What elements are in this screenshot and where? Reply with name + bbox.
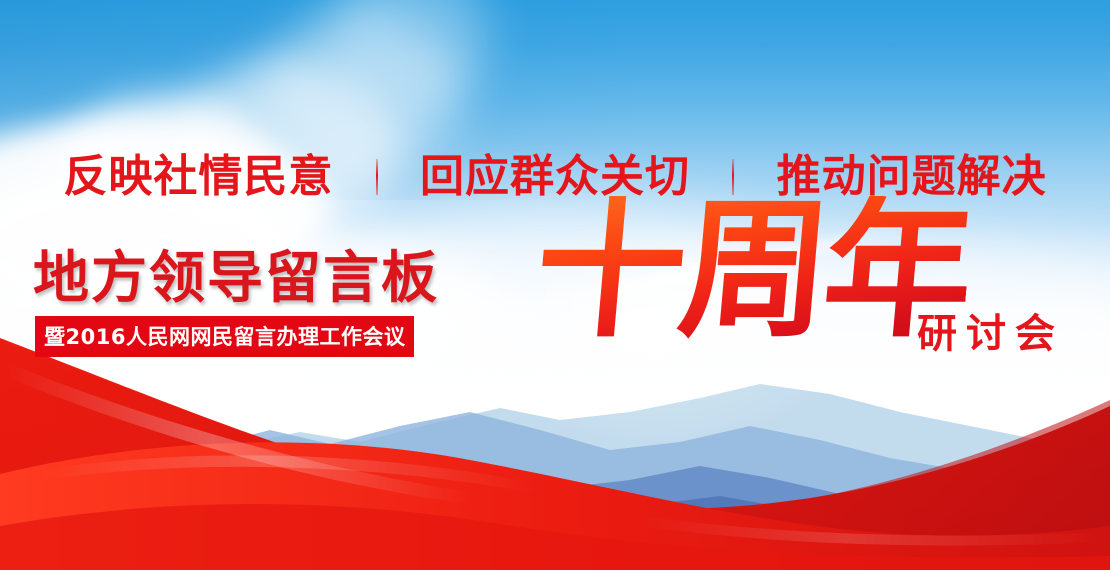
slogan-item-3: 推动问题解决 [777,140,1047,204]
main-title: 地方领导留言板 [33,233,439,314]
slogan-divider [732,159,734,195]
slogan-item-1: 反映社情民意 [63,140,333,204]
anniversary-banner: 十周年 反映社情民意 回应群众关切 推动问题解决 地方领导留言板 暨2016人民… [0,0,1110,570]
anniversary-calligraphy: 十周年 [529,196,974,346]
slogan-line: 反映社情民意 回应群众关切 推动问题解决 [0,140,1110,204]
slogan-divider [376,159,378,195]
slogan-item-2: 回应群众关切 [420,140,690,204]
event-type-label: 研讨会 [917,301,1064,359]
subtitle-bar: 暨2016人民网网民留言办理工作会议 [35,316,414,357]
